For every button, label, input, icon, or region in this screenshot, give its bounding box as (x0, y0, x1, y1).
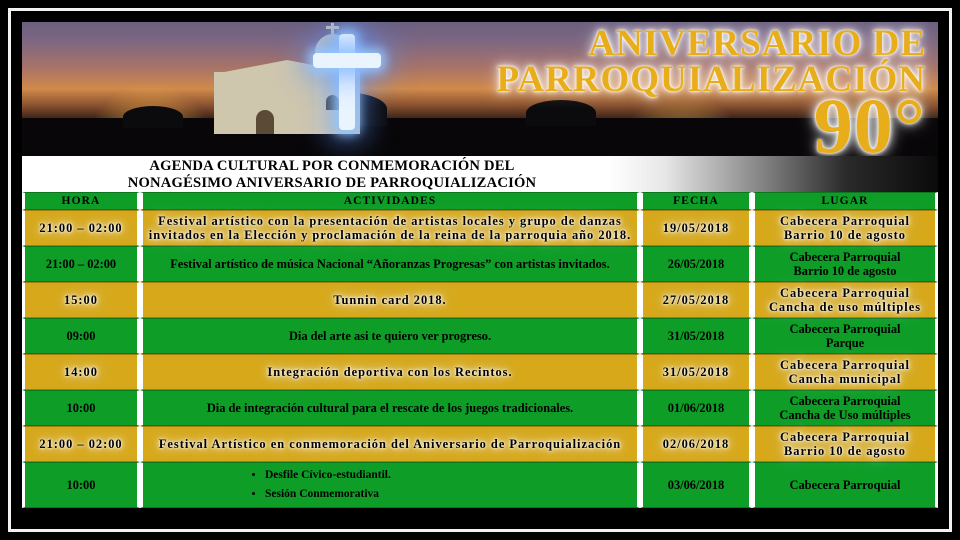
cell-lugar: Cabecera ParroquialBarrio 10 de agosto (752, 246, 938, 282)
tree-silhouette-icon (123, 106, 183, 128)
cell-lugar: Cabecera Parroquial (752, 462, 938, 508)
table-row: 21:00 – 02:00Festival artístico con la p… (22, 210, 938, 246)
table-row: 10:00Dia de integración cultural para el… (22, 390, 938, 426)
list-item: Sesión Conmemorativa (265, 485, 633, 504)
lugar-line-2: Parque (759, 336, 931, 350)
cell-hora: 10:00 (22, 390, 140, 426)
lugar-line-2: Barrio 10 de agosto (759, 264, 931, 278)
cell-hora: 14:00 (22, 354, 140, 390)
cell-fecha: 27/05/2018 (640, 282, 752, 318)
activity-bullet-list: Desfile Cívico-estudiantil.Sesión Conmem… (147, 466, 633, 504)
lugar-line-2: Cancha de Uso múltiples (759, 408, 931, 422)
neon-cross-icon (339, 34, 355, 130)
table-row: 21:00 – 02:00Festival Artístico en conme… (22, 426, 938, 462)
cell-hora: 09:00 (22, 318, 140, 354)
agenda-table-body: 21:00 – 02:00Festival artístico con la p… (22, 210, 938, 508)
lugar-line-1: Cabecera Parroquial (759, 478, 931, 492)
cell-lugar: Cabecera ParroquialCancha de Uso múltipl… (752, 390, 938, 426)
cell-actividad: Festival Artístico en conmemoración del … (140, 426, 640, 462)
cell-actividad: Festival artístico de música Nacional “A… (140, 246, 640, 282)
cell-actividad: Tunnin card 2018. (140, 282, 640, 318)
table-row: 10:00Desfile Cívico-estudiantil.Sesión C… (22, 462, 938, 508)
lugar-line-1: Cabecera Parroquial (759, 358, 931, 372)
church-sunset-photo (22, 22, 938, 156)
cell-hora: 21:00 – 02:00 (22, 246, 140, 282)
cell-hora: 21:00 – 02:00 (22, 210, 140, 246)
lugar-line-2: Cancha municipal (759, 372, 931, 386)
heading-text: AGENDA CULTURAL POR CONMEMORACIÓN DEL NO… (22, 156, 642, 192)
cell-actividad: Dia de integración cultural para el resc… (140, 390, 640, 426)
poster-inner: ANIVERSARIO DE PARROQUIALIZACIÓN 90° AGE… (22, 22, 938, 518)
cell-fecha: 01/06/2018 (640, 390, 752, 426)
cell-actividad: Dia del arte asi te quiero ver progreso. (140, 318, 640, 354)
cell-lugar: Cabecera ParroquialCancha municipal (752, 354, 938, 390)
lugar-line-1: Cabecera Parroquial (759, 394, 931, 408)
column-header-actividades: ACTIVIDADES (140, 192, 640, 210)
cell-actividad: Desfile Cívico-estudiantil.Sesión Conmem… (140, 462, 640, 508)
neon-cross-arm (313, 53, 381, 68)
cell-fecha: 03/06/2018 (640, 462, 752, 508)
table-row: 09:00Dia del arte asi te quiero ver prog… (22, 318, 938, 354)
cell-lugar: Cabecera ParroquialCancha de uso múltipl… (752, 282, 938, 318)
column-header-fecha: FECHA (640, 192, 752, 210)
agenda-table: HORA ACTIVIDADES FECHA LUGAR 21:00 – 02:… (22, 192, 938, 508)
lugar-line-1: Cabecera Parroquial (759, 430, 931, 444)
tree-silhouette-icon (526, 100, 596, 126)
bell-opening (326, 95, 339, 110)
lugar-line-2: Barrio 10 de agosto (759, 228, 931, 242)
cell-hora: 21:00 – 02:00 (22, 426, 140, 462)
lugar-line-1: Cabecera Parroquial (759, 286, 931, 300)
lugar-line-1: Cabecera Parroquial (759, 322, 931, 336)
heading-line-2: NONAGÉSIMO ANIVERSARIO DE PARROQUIALIZAC… (22, 175, 642, 192)
cell-lugar: Cabecera ParroquialBarrio 10 de agosto (752, 426, 938, 462)
cell-actividad: Integración deportiva con los Recintos. (140, 354, 640, 390)
lugar-line-1: Cabecera Parroquial (759, 250, 931, 264)
heading-band: AGENDA CULTURAL POR CONMEMORACIÓN DEL NO… (22, 156, 938, 192)
cell-fecha: 31/05/2018 (640, 318, 752, 354)
table-header-row: HORA ACTIVIDADES FECHA LUGAR (22, 192, 938, 210)
list-item: Desfile Cívico-estudiantil. (265, 466, 633, 485)
table-row: 14:00Integración deportiva con los Recin… (22, 354, 938, 390)
cell-fecha: 26/05/2018 (640, 246, 752, 282)
cell-lugar: Cabecera ParroquialBarrio 10 de agosto (752, 210, 938, 246)
lugar-line-2: Cancha de uso múltiples (759, 300, 931, 314)
cell-fecha: 31/05/2018 (640, 354, 752, 390)
table-row: 21:00 – 02:00Festival artístico de músic… (22, 246, 938, 282)
cell-fecha: 02/06/2018 (640, 426, 752, 462)
cell-lugar: Cabecera ParroquialParque (752, 318, 938, 354)
cell-actividad: Festival artístico con la presentación d… (140, 210, 640, 246)
lugar-line-1: Cabecera Parroquial (759, 214, 931, 228)
cell-hora: 15:00 (22, 282, 140, 318)
cell-hora: 10:00 (22, 462, 140, 508)
church-door (256, 110, 274, 134)
heading-line-1: AGENDA CULTURAL POR CONMEMORACIÓN DEL (22, 158, 642, 175)
lugar-line-2: Barrio 10 de agosto (759, 444, 931, 458)
column-header-lugar: LUGAR (752, 192, 938, 210)
column-header-hora: HORA (22, 192, 140, 210)
table-row: 15:00Tunnin card 2018.27/05/2018Cabecera… (22, 282, 938, 318)
poster-root: ANIVERSARIO DE PARROQUIALIZACIÓN 90° AGE… (0, 0, 960, 540)
cell-fecha: 19/05/2018 (640, 210, 752, 246)
